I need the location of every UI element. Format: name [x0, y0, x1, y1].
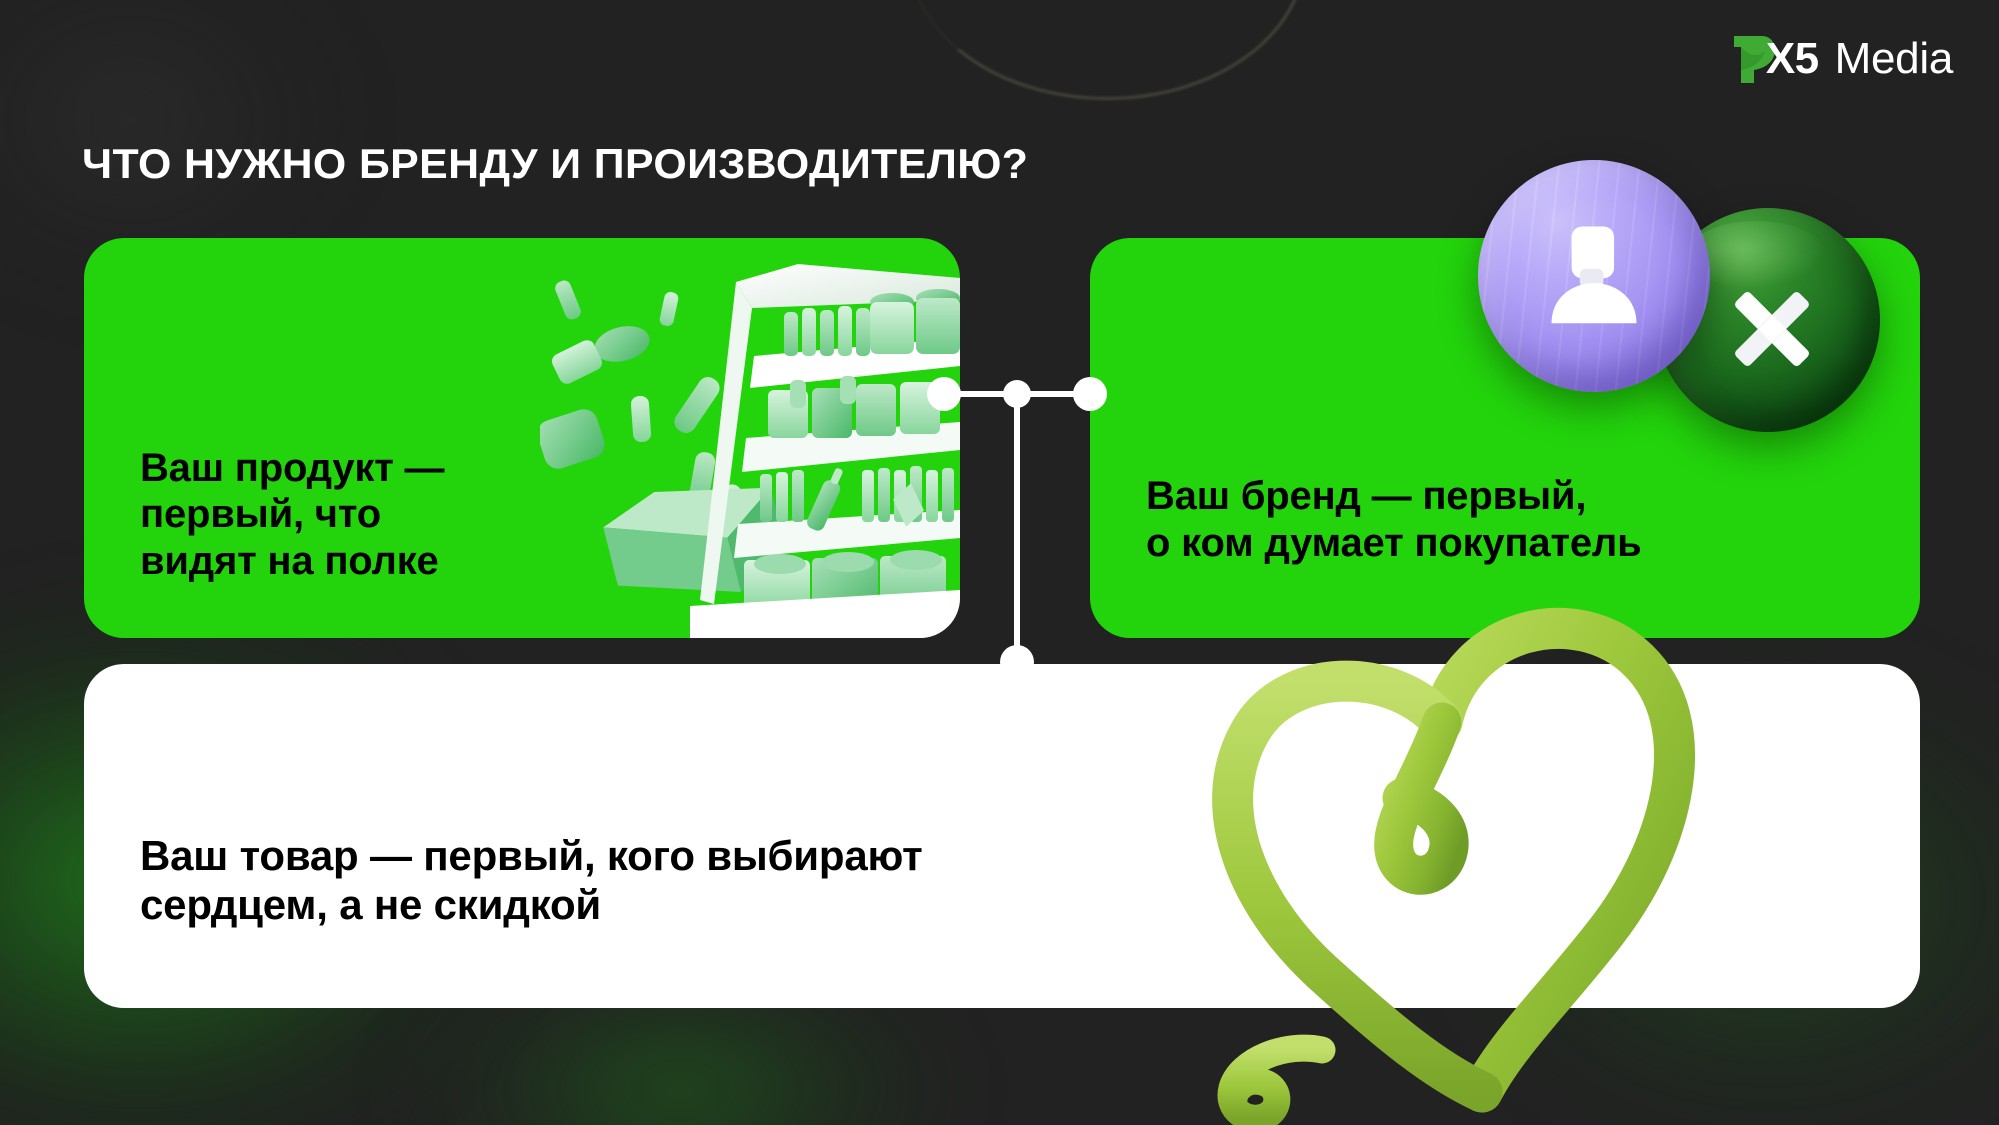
- decorative-ring-icon: [908, 0, 1306, 100]
- logo-media-text: Media: [1835, 37, 1953, 81]
- card-brand-text: Ваш бренд — первый, о ком думает покупат…: [1146, 473, 1641, 566]
- user-sphere-icon: [1478, 160, 1710, 392]
- connector-line: [930, 370, 1120, 690]
- page-title: ЧТО НУЖНО БРЕНДУ И ПРОИЗВОДИТЕЛЮ?: [82, 140, 1028, 188]
- logo-x5-text: X5: [1766, 37, 1819, 81]
- card-goods[interactable]: Ваш товар — первый, кого выбирают сердце…: [84, 664, 1920, 1008]
- card-product[interactable]: Ваш продукт — первый, что видят на полке: [84, 238, 960, 638]
- card-product-text: Ваш продукт — первый, что видят на полке: [140, 445, 444, 584]
- card-goods-text: Ваш товар — первый, кого выбирают сердце…: [140, 832, 923, 929]
- x5-media-logo: X5 Media: [1732, 28, 1953, 90]
- connector-dot: [1073, 377, 1107, 411]
- connector-dot: [1000, 645, 1034, 679]
- poster-canvas: X5 Media ЧТО НУЖНО БРЕНДУ И ПРОИЗВОДИТЕЛ…: [0, 0, 1999, 1125]
- connector-dot: [927, 377, 961, 411]
- supermarket-shelf-icon: [540, 238, 960, 638]
- connector-dot: [1003, 380, 1031, 408]
